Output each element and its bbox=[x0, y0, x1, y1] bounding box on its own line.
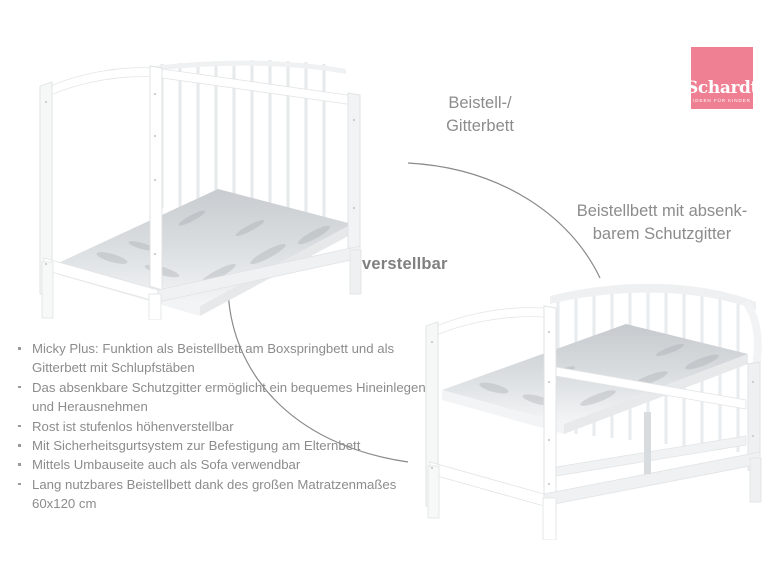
callout-label-gitterbett: Beistell-/ Gitterbett bbox=[400, 92, 560, 139]
brand-tagline: IDEEN FÜR KINDER bbox=[693, 99, 751, 104]
list-item: Das absenkbare Schutzgitter ermöglicht e… bbox=[14, 378, 434, 417]
feature-list: Micky Plus: Funktion als Beistellbett am… bbox=[14, 339, 434, 514]
infographic-page: Beistell-/ Gitterbett Beistellbett mit a… bbox=[0, 0, 772, 579]
list-item: Lang nutzbares Beistellbett dank des gro… bbox=[14, 475, 434, 514]
brand-name: Schardt bbox=[686, 80, 758, 97]
label-verstellbar: verstellbar bbox=[362, 255, 448, 274]
list-item: Mit Sicherheitsgurtsystem zur Befestigun… bbox=[14, 436, 434, 455]
crib-illustration-beistellbett bbox=[412, 272, 770, 540]
callout-label-beistellbett: Beistellbett mit absenk- barem Schutzgit… bbox=[552, 200, 772, 247]
crib-illustration-gitterbett bbox=[22, 58, 382, 320]
brand-logo: Schardt IDEEN FÜR KINDER bbox=[691, 47, 753, 109]
list-item: Mittels Umbauseite auch als Sofa verwend… bbox=[14, 455, 434, 474]
list-item: Rost ist stufenlos höhenverstellbar bbox=[14, 417, 434, 436]
list-item: Micky Plus: Funktion als Beistellbett am… bbox=[14, 339, 434, 378]
